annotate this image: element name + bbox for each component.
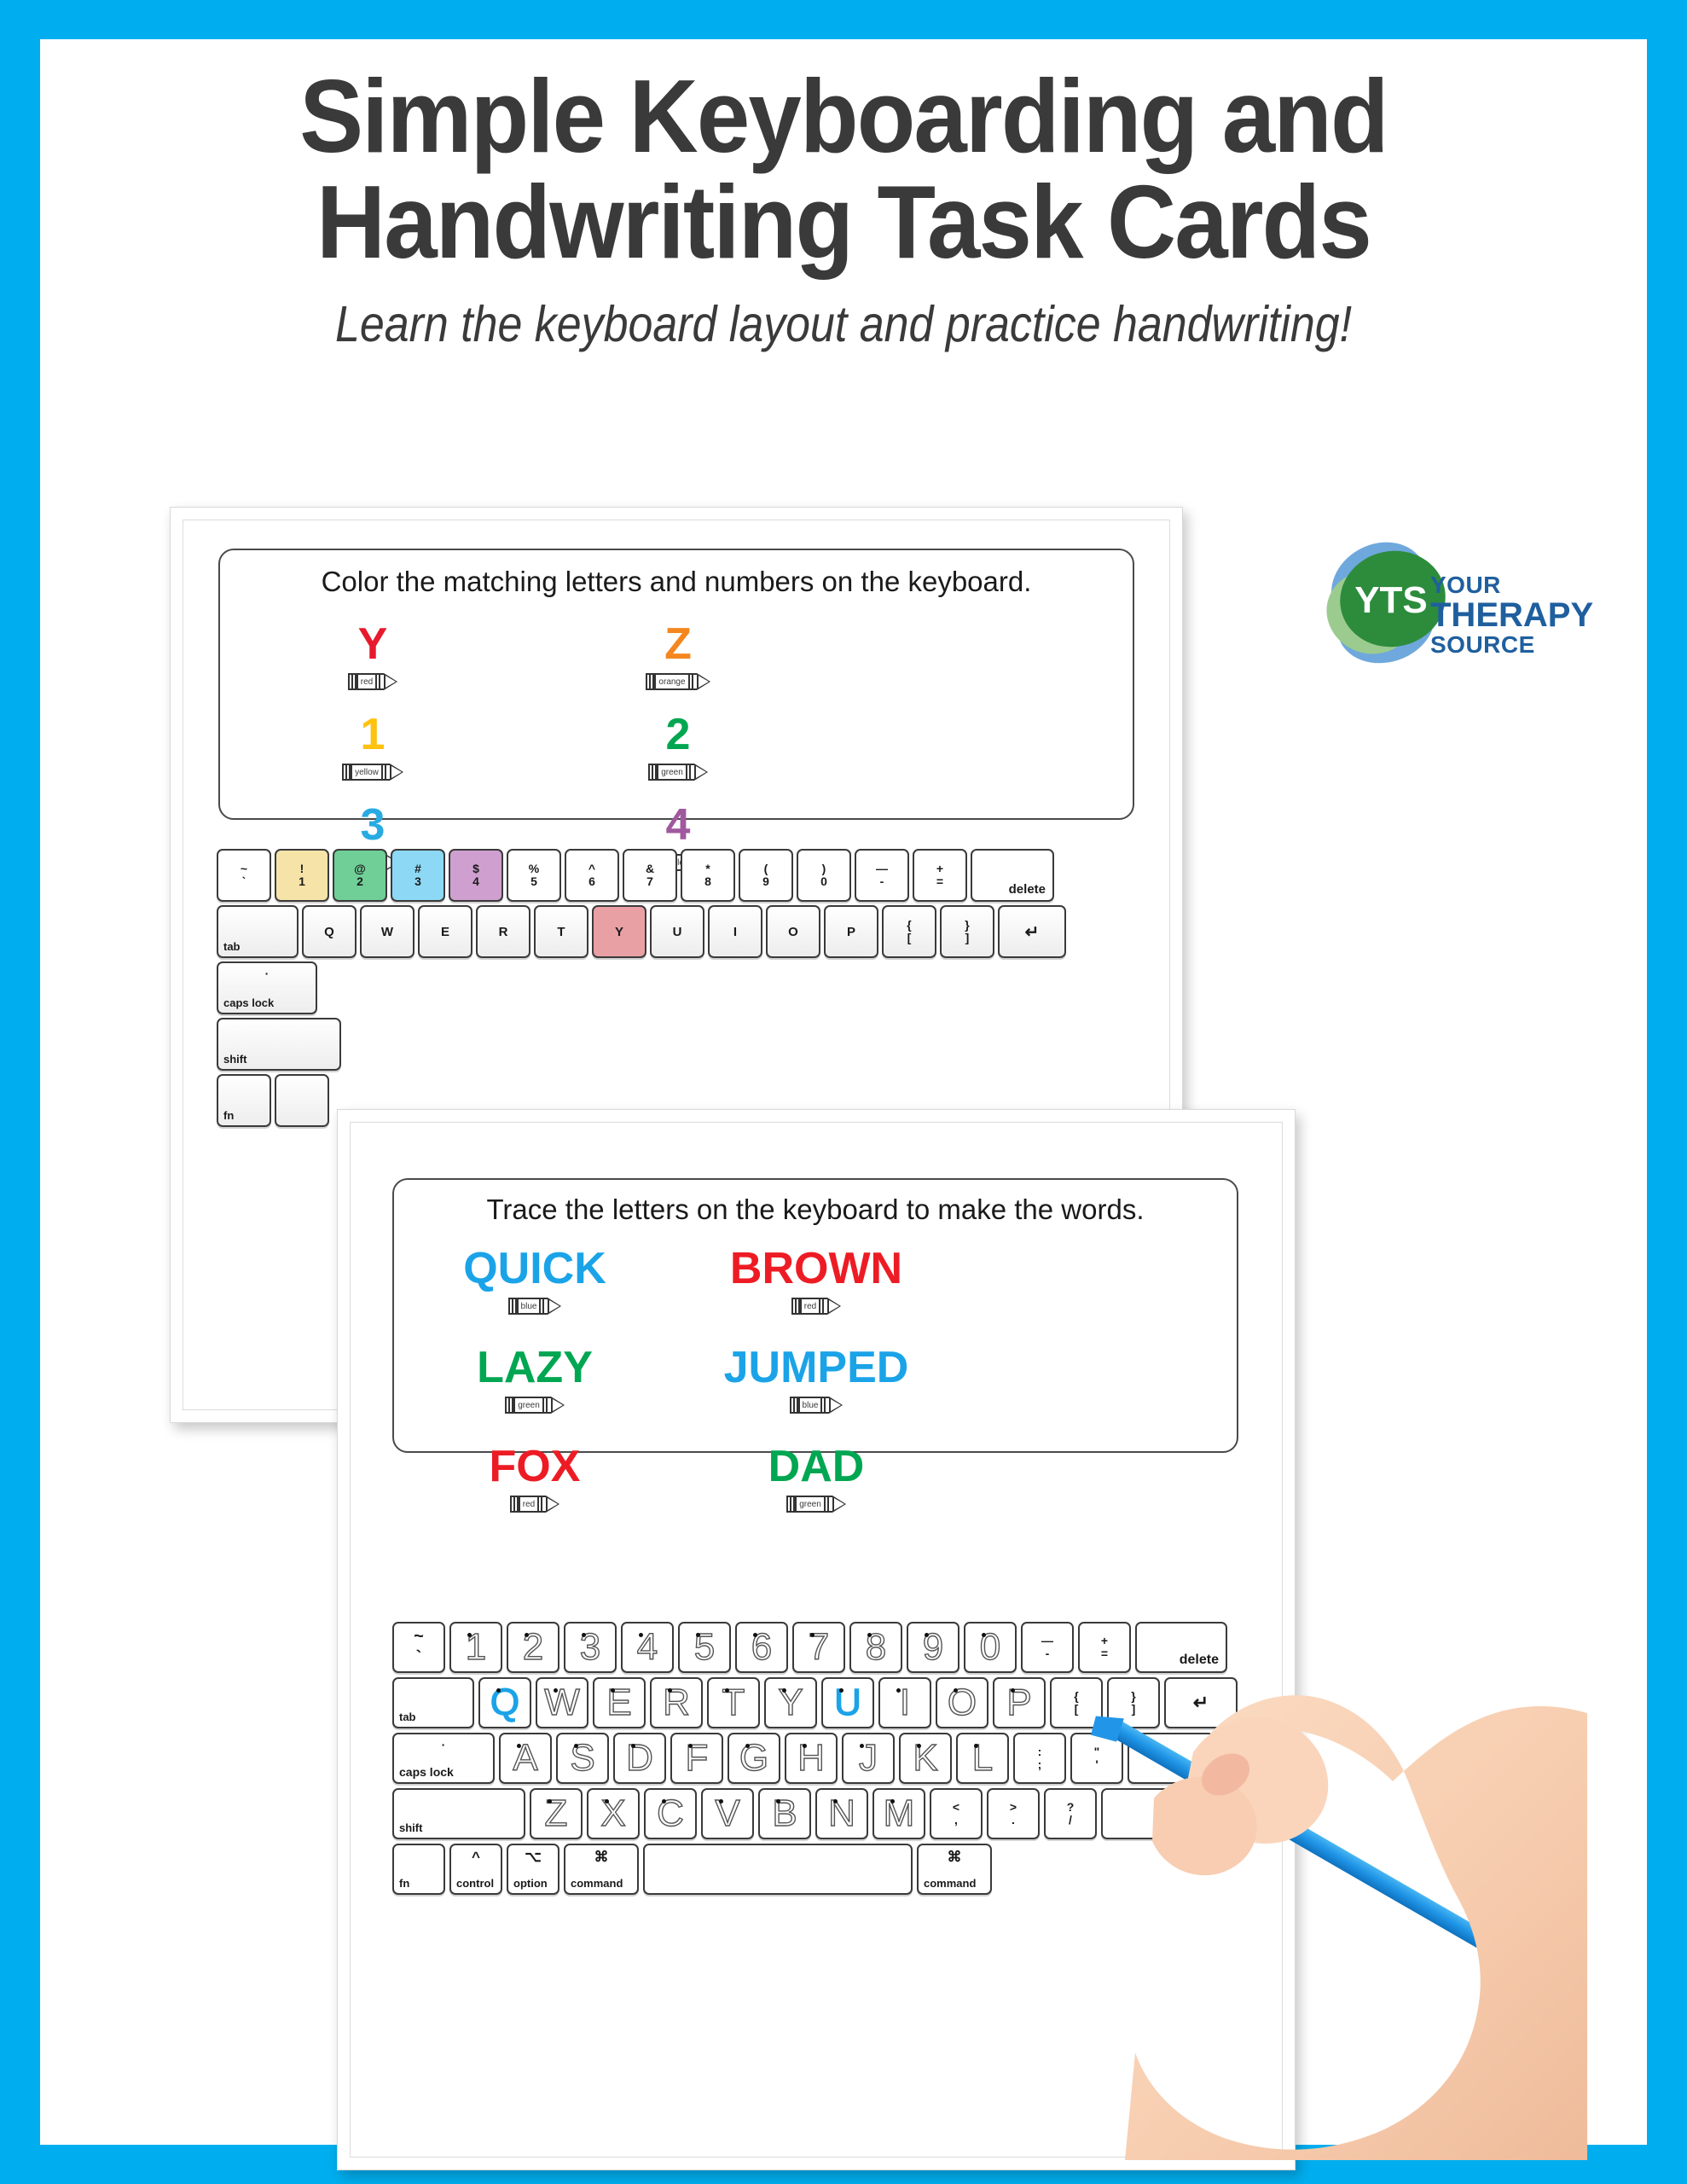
task-card-color: Color the matching letters and numbers o… [218,549,1134,820]
key-label: delete [1009,882,1046,897]
key-top-label: < [953,1801,959,1814]
key-J[interactable]: J [842,1733,895,1784]
keyboard-row: caps lock·ASDFGHJKL:;"' [392,1733,1238,1784]
keyboard-row: ~`!1@2#3$4%5^6&7*8(9)0—-+=delete [217,849,1066,902]
trace-start-dot [467,1633,472,1637]
logo-line-1: YOUR [1430,573,1593,597]
page-title: Simple Keyboarding and Handwriting Task … [104,63,1582,276]
key-9[interactable]: (9 [739,849,793,902]
trace-start-dot [662,1799,666,1804]
key-command[interactable]: ⌘command [917,1844,992,1895]
key-bottom-label: - [880,875,884,888]
card-item: JUMPEDblue [675,1345,957,1414]
key-plus[interactable]: += [1078,1622,1131,1673]
task-card-trace: Trace the letters on the keyboard to mak… [392,1178,1238,1453]
trace-start-dot [496,1688,501,1693]
card-item: BROWNred [675,1246,957,1315]
key-6[interactable]: ^6 [565,849,619,902]
key-top-label: # [415,863,421,875]
key-delete[interactable]: delete [971,849,1054,902]
key-E[interactable]: E [418,905,472,958]
key-label: control [456,1877,494,1890]
key-label: O [788,925,798,939]
key-7[interactable]: 7 [792,1622,845,1673]
trace-start-dot [611,1688,615,1693]
key-shift-left[interactable]: shift [392,1788,525,1839]
key-label: T [557,925,565,939]
trace-start-dot [582,1633,586,1637]
key-K[interactable]: K [899,1733,952,1784]
crayon-tip [832,1496,846,1513]
key-3[interactable]: #3 [391,849,445,902]
poster-sheet: Simple Keyboarding and Handwriting Task … [40,39,1647,2145]
card-item: Yred [220,622,525,690]
key-bracket[interactable]: }] [940,905,994,958]
key-E[interactable]: E [593,1677,646,1728]
trace-start-dot [890,1799,895,1804]
traced-glyph: R [663,1684,690,1722]
keyboard-row: tabQWERTYUIOP{[}]↵ [217,905,1066,958]
key-minus[interactable]: —- [1021,1622,1074,1673]
crayon-icon: blue [790,1397,843,1414]
key-label: tab [399,1711,416,1723]
key-U[interactable]: U [650,905,704,958]
key-=[interactable]: += [913,849,967,902]
key-O[interactable]: O [936,1677,988,1728]
trace-start-dot [867,1633,872,1637]
key-X[interactable]: X [587,1788,640,1839]
crayon-label: red [800,1299,820,1313]
title-line-1: Simple Keyboarding and [104,63,1582,169]
key-label: ↵ [1025,921,1040,943]
card-item-glyph: 3 [361,803,386,847]
trace-start-dot [631,1744,635,1748]
key-quote[interactable]: "' [1070,1733,1123,1784]
crayon-tip [546,1496,559,1513]
key-top-label: * [705,863,710,875]
key-label: caps lock [399,1765,454,1779]
key-command[interactable]: ⌘command [564,1844,639,1895]
key-top-label: $ [472,863,479,875]
key-label: command [571,1877,623,1890]
key-bottom-label: ] [1132,1703,1136,1716]
key-semicolon[interactable]: :; [1013,1733,1066,1784]
key-option[interactable]: ⌥option [507,1844,559,1895]
crayon-label: blue [517,1299,542,1313]
key-label: I [733,925,737,939]
crayon-label: blue [798,1398,823,1412]
crayon-tip [697,673,710,690]
key-Z[interactable]: Z [530,1788,583,1839]
card-item: 2green [525,712,831,781]
key-2[interactable]: @2 [333,849,387,902]
keyboard-row: shiftZXCVBNM<,>.?/shift [392,1788,1238,1839]
key-Q[interactable]: Q [302,905,357,958]
card-item-glyph: DAD [768,1444,865,1489]
key-Y[interactable]: Y [764,1677,817,1728]
card-item: QUICKblue [394,1246,675,1315]
key-period[interactable]: >. [987,1788,1040,1839]
key-tab[interactable]: tab [392,1677,474,1728]
card-item: 1yellow [220,712,525,781]
key-top-label: @ [354,863,366,875]
crayon-tip [390,764,403,781]
traced-glyph: H [797,1740,825,1777]
key-label: Q [324,925,334,939]
key-bottom-label: ] [965,932,970,944]
key-bottom-label: 9 [762,875,769,888]
key-8[interactable]: 8 [849,1622,902,1673]
crayon-label: green [513,1398,544,1412]
card-item-glyph: Z [664,622,692,666]
trace-start-dot [896,1688,901,1693]
crayon-label: red [357,675,377,688]
crayon-icon: red [348,673,397,690]
logo-line-3: SOURCE [1430,633,1593,657]
trace-start-dot [954,1688,958,1693]
key-top-label: % [529,863,539,875]
card-1-title: Color the matching letters and numbers o… [220,566,1133,598]
key-R[interactable]: R [476,905,530,958]
key-label: shift [223,1053,246,1066]
card-item-glyph: LAZY [477,1345,593,1390]
key-top-label: { [1074,1690,1078,1703]
trace-start-dot [688,1744,693,1748]
trace-start-dot [833,1799,838,1804]
key-modifier-glyph: ^ [451,1849,501,1866]
key-top-label: · [394,1738,493,1751]
key-bottom-label: ; [1038,1758,1042,1771]
key-U[interactable]: U [821,1677,874,1728]
key-bottom-label: = [936,875,943,888]
key-top-label: ) [822,863,826,875]
key-modifier-glyph: ⌥ [508,1849,558,1866]
trace-start-dot [548,1799,552,1804]
key-label: E [441,925,449,939]
key-return-lower[interactable] [1128,1733,1215,1784]
crayon-tip [551,1397,565,1414]
key-top-label: > [1010,1801,1017,1814]
key-bottom-label: 1 [299,875,305,888]
traced-glyph: W [544,1684,580,1722]
keyboard-row: shift [217,1018,1066,1071]
traced-glyph: M [884,1795,915,1833]
key-tilde[interactable]: ~` [392,1622,445,1673]
trace-start-dot [974,1744,978,1748]
key-6[interactable]: 6 [735,1622,788,1673]
key-slash[interactable]: ?/ [1044,1788,1097,1839]
key-`[interactable]: ~` [217,849,271,902]
crayon-icon: red [791,1298,841,1315]
key-7[interactable]: &7 [623,849,677,902]
traced-glyph: Q [490,1684,519,1722]
key-top-label: } [1131,1690,1135,1703]
key-caps-lock[interactable]: caps lock· [392,1733,495,1784]
crayon-tip [827,1298,841,1315]
key-label: Y [615,925,623,939]
key-1[interactable]: !1 [275,849,329,902]
key-label: W [381,925,393,939]
keyboard-row: tabQWERTYUIOP{[}]↵ [392,1677,1238,1728]
key-top-label: ~ [241,863,247,875]
traced-glyph: N [828,1795,855,1833]
key-label: shift [1186,1821,1212,1834]
key-return[interactable]: ↵ [1164,1677,1238,1728]
key-delete[interactable]: delete [1135,1622,1227,1673]
key-bottom-label: 2 [357,875,363,888]
key-R[interactable]: R [650,1677,703,1728]
key-top-label: + [1101,1635,1108,1647]
key-return[interactable]: ↵ [998,905,1066,958]
title-line-2: Handwriting Task Cards [104,169,1582,275]
card-item: Zorange [525,622,831,690]
key-4[interactable]: $4 [449,849,503,902]
card-item: DADgreen [675,1444,957,1513]
card-item-glyph: FOX [490,1444,581,1489]
key-W[interactable]: W [536,1677,588,1728]
crayon-tip [694,764,708,781]
key-M[interactable]: M [872,1788,925,1839]
key-0[interactable]: )0 [797,849,851,902]
key-tab[interactable]: tab [217,905,299,958]
trace-start-dot [782,1688,786,1693]
key-top-label: — [876,863,888,875]
key-label: shift [399,1821,422,1834]
key-caps-lock[interactable]: caps lock· [217,961,317,1014]
key-label: R [499,925,508,939]
key-top-label: — [1041,1635,1053,1647]
key-bottom-label: 6 [588,875,595,888]
key-T[interactable]: T [707,1677,760,1728]
key-F[interactable]: F [670,1733,723,1784]
key-L[interactable]: L [956,1733,1009,1784]
key-comma[interactable]: <, [930,1788,983,1839]
keyboard-row: caps lock· [217,961,1066,1014]
key-label: U [673,925,682,939]
key-T[interactable]: T [534,905,588,958]
traced-glyph: O [948,1684,977,1722]
key-bottom-label: ` [394,1648,443,1668]
key-bottom-label: 7 [646,875,653,888]
trace-start-dot [803,1744,807,1748]
crayon-icon: green [786,1496,846,1513]
logo-wordmark: YOUR THERAPY SOURCE [1430,573,1593,657]
key-9[interactable]: 9 [907,1622,959,1673]
key-top-label: & [646,863,654,875]
key-bottom-label: . [1012,1814,1015,1827]
crayon-icon: green [648,764,708,781]
key-4[interactable]: 4 [621,1622,674,1673]
trace-start-dot [554,1688,558,1693]
key-fn[interactable]: fn [217,1074,271,1127]
key-Q[interactable]: Q [478,1677,531,1728]
key-control[interactable]: ^control [449,1844,502,1895]
trace-start-dot [725,1688,729,1693]
key-bottom-label: [ [907,932,912,944]
yts-logo: YTS YOUR THERAPY SOURCE [1319,534,1644,688]
crayon-label: green [657,765,687,779]
key-V[interactable]: V [701,1788,754,1839]
svg-text:YTS: YTS [1354,579,1428,621]
key-control[interactable] [275,1074,329,1127]
card-item: LAZYgreen [394,1345,675,1414]
keyboard-color: ~`!1@2#3$4%5^6&7*8(9)0—-+=deletetabQWERT… [217,849,1066,1127]
key-bottom-label: 4 [472,875,479,888]
trace-start-dot [574,1744,578,1748]
key-bottom-label: , [954,1814,958,1827]
key-C[interactable]: C [644,1788,697,1839]
key-label: caps lock [223,996,274,1009]
key-top-label: + [936,863,943,875]
card-item-glyph: 1 [361,712,386,757]
keyboard-row: fn^control⌥option⌘command⌘command [392,1844,1238,1895]
key-label: delete [1180,1653,1219,1668]
key-I[interactable]: I [708,905,762,958]
key-top-label: " [1094,1745,1100,1758]
printable-page-2: Trace the letters on the keyboard to mak… [337,1109,1296,2170]
key-bottom-label: 5 [530,875,537,888]
key-top-label: : [1038,1745,1042,1758]
key-label: command [924,1877,976,1890]
key-label: ↵ [1193,1692,1209,1714]
key-label: fn [223,1109,234,1122]
key-label: option [513,1877,548,1890]
key-bracket-right[interactable]: }] [1107,1677,1160,1728]
key-top-label: · [218,967,316,980]
key-bottom-label: ` [242,875,246,888]
card-item-glyph: 2 [666,712,691,757]
key-H[interactable]: H [785,1733,838,1784]
key-3[interactable]: 3 [564,1622,617,1673]
key-bottom-label: - [1046,1647,1050,1660]
trace-start-dot [917,1744,921,1748]
key-5[interactable]: 5 [678,1622,731,1673]
logo-line-2: THERAPY [1430,598,1593,632]
key-5[interactable]: %5 [507,849,561,902]
key-top-label: ( [764,863,768,875]
key-N[interactable]: N [815,1788,868,1839]
key-0[interactable]: 0 [964,1622,1017,1673]
key-D[interactable]: D [613,1733,666,1784]
trace-start-dot [525,1633,529,1637]
key-modifier-glyph: ⌘ [565,1849,637,1866]
key-A[interactable]: A [499,1733,552,1784]
key-modifier-glyph: ⌘ [919,1849,990,1866]
page-subtitle: Learn the keyboard layout and practice h… [136,295,1551,353]
trace-start-dot [668,1688,672,1693]
trace-start-dot [860,1744,864,1748]
key-label: fn [399,1877,409,1890]
key-bottom-label: 3 [415,875,421,888]
key-bottom-label: / [1069,1814,1072,1827]
key-S[interactable]: S [556,1733,609,1784]
crayon-icon: green [505,1397,565,1414]
key-bottom-label: 0 [820,875,827,888]
key-B[interactable]: B [758,1788,811,1839]
key-bottom-label: 8 [704,875,711,888]
card-item-glyph: BROWN [730,1246,902,1291]
key-top-label: ~ [394,1627,443,1647]
key-label: tab [223,940,241,953]
crayon-tip [384,673,397,690]
traced-glyph: G [739,1740,768,1777]
card-2-title: Trace the letters on the keyboard to mak… [394,1194,1237,1226]
key-W[interactable]: W [360,905,415,958]
card-item-glyph: Y [358,622,388,666]
traced-glyph: D [626,1740,653,1777]
card-item-glyph: JUMPED [724,1345,909,1390]
trace-start-dot [839,1688,843,1693]
trace-start-dot [810,1633,815,1637]
key-Y[interactable]: Y [592,905,646,958]
key-P[interactable]: P [993,1677,1046,1728]
key-top-label: } [965,919,969,932]
trace-start-dot [982,1633,986,1637]
key-bottom-label: ' [1095,1758,1098,1771]
key-top-label: { [907,919,911,932]
traced-glyph: I [900,1684,910,1722]
key-top-label: ^ [588,863,595,875]
traced-glyph: U [834,1684,861,1722]
key-bracket-left[interactable]: {[ [1050,1677,1103,1728]
trace-start-dot [1011,1688,1015,1693]
crayon-icon: blue [508,1298,562,1315]
key-1[interactable]: 1 [449,1622,502,1673]
key-fn[interactable]: fn [392,1844,445,1895]
key-bottom-label: [ [1075,1703,1079,1716]
card-item: FOXred [394,1444,675,1513]
key-bottom-label: = [1101,1647,1108,1660]
crayon-icon: red [510,1496,559,1513]
key--[interactable]: —- [855,849,909,902]
crayon-icon: yellow [342,764,403,781]
key-space[interactable] [643,1844,913,1895]
trace-start-dot [517,1744,521,1748]
card-item-glyph: QUICK [463,1246,606,1291]
key-label: P [847,925,855,939]
card-item-glyph: 4 [666,803,691,847]
key-I[interactable]: I [878,1677,931,1728]
crayon-tip [829,1397,843,1414]
key-8[interactable]: *8 [681,849,735,902]
trace-start-dot [696,1633,700,1637]
traced-glyph: C [657,1795,684,1833]
key-shift-right[interactable]: shift [1101,1788,1220,1839]
key-top-label: ? [1067,1801,1075,1814]
trace-start-dot [925,1633,929,1637]
trace-start-dot [776,1799,780,1804]
key-shift[interactable]: shift [217,1018,341,1071]
crayon-icon: orange [646,673,710,690]
trace-start-dot [753,1633,757,1637]
crayon-label: red [519,1497,539,1511]
key-bracket[interactable]: {[ [882,905,936,958]
crayon-label: orange [654,675,689,688]
key-2[interactable]: 2 [507,1622,559,1673]
key-G[interactable]: G [728,1733,780,1784]
crayon-tip [548,1298,561,1315]
trace-start-dot [719,1799,723,1804]
key-top-label: ! [300,863,304,875]
keyboard-row: ~`1234567890—-+=delete [392,1622,1238,1673]
keyboard-trace: ~`1234567890—-+=deletetabQWERTYUIOP{[}]↵… [392,1622,1238,1895]
key-P[interactable]: P [824,905,878,958]
trace-start-dot [745,1744,750,1748]
trace-start-dot [605,1799,609,1804]
trace-start-dot [639,1633,643,1637]
crayon-label: yellow [351,765,383,779]
key-O[interactable]: O [766,905,820,958]
